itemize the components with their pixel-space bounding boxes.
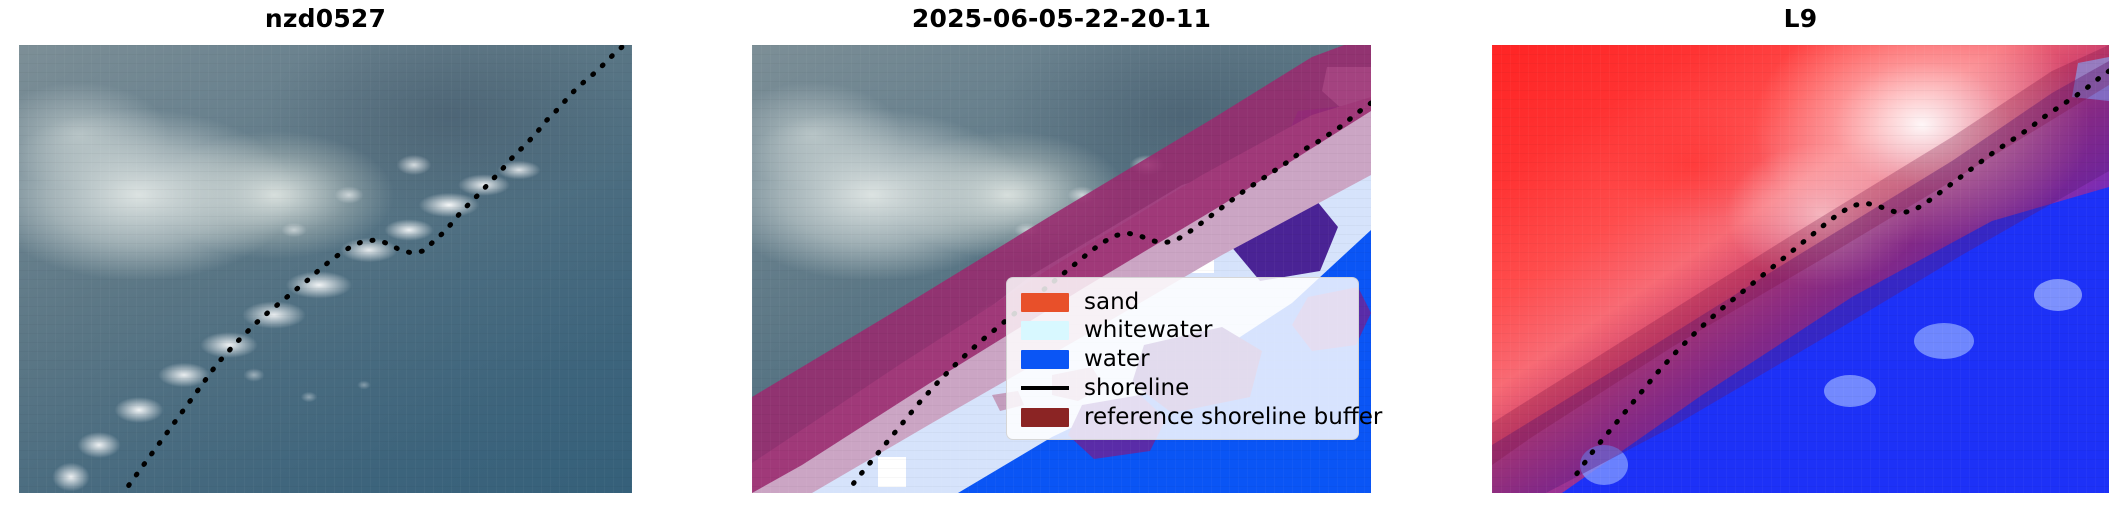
legend-item-whitewater: whitewater: [1021, 317, 1344, 345]
legend-swatch-sand: [1021, 293, 1069, 312]
legend-swatch-whitewater: [1021, 321, 1069, 340]
legend-item-water: water: [1021, 346, 1344, 374]
legend-label-water: water: [1084, 348, 1150, 371]
legend-swatch-water: [1021, 350, 1069, 369]
panel-index-image[interactable]: [1492, 45, 2109, 493]
legend-line-shoreline: [1021, 386, 1069, 390]
legend-item-reference-shoreline-buffer: reference shoreline buffer: [1021, 403, 1344, 431]
legend-label-sand: sand: [1084, 291, 1139, 314]
legend-label-whitewater: whitewater: [1084, 319, 1212, 342]
panel-title-2: 2025-06-05-22-20-11: [752, 4, 1371, 34]
figure-canvas: nzd0527 2025-06-05-22-20-11: [0, 0, 2122, 508]
legend-box: sand whitewater water shoreline referenc…: [1006, 277, 1359, 440]
legend-swatch-reference-shoreline-buffer: [1021, 408, 1069, 427]
panel-rgb-satellite[interactable]: [19, 45, 632, 493]
shoreline-overlay-3: [1492, 45, 2109, 493]
shoreline-overlay-1: [19, 45, 632, 493]
panel-title-3: L9: [1492, 4, 2109, 34]
legend-label-shoreline: shoreline: [1084, 377, 1189, 400]
legend-item-shoreline: shoreline: [1021, 374, 1344, 402]
legend-item-sand: sand: [1021, 288, 1344, 316]
panel-title-1: nzd0527: [19, 4, 632, 34]
legend-label-reference-shoreline-buffer: reference shoreline buffer: [1084, 406, 1382, 429]
